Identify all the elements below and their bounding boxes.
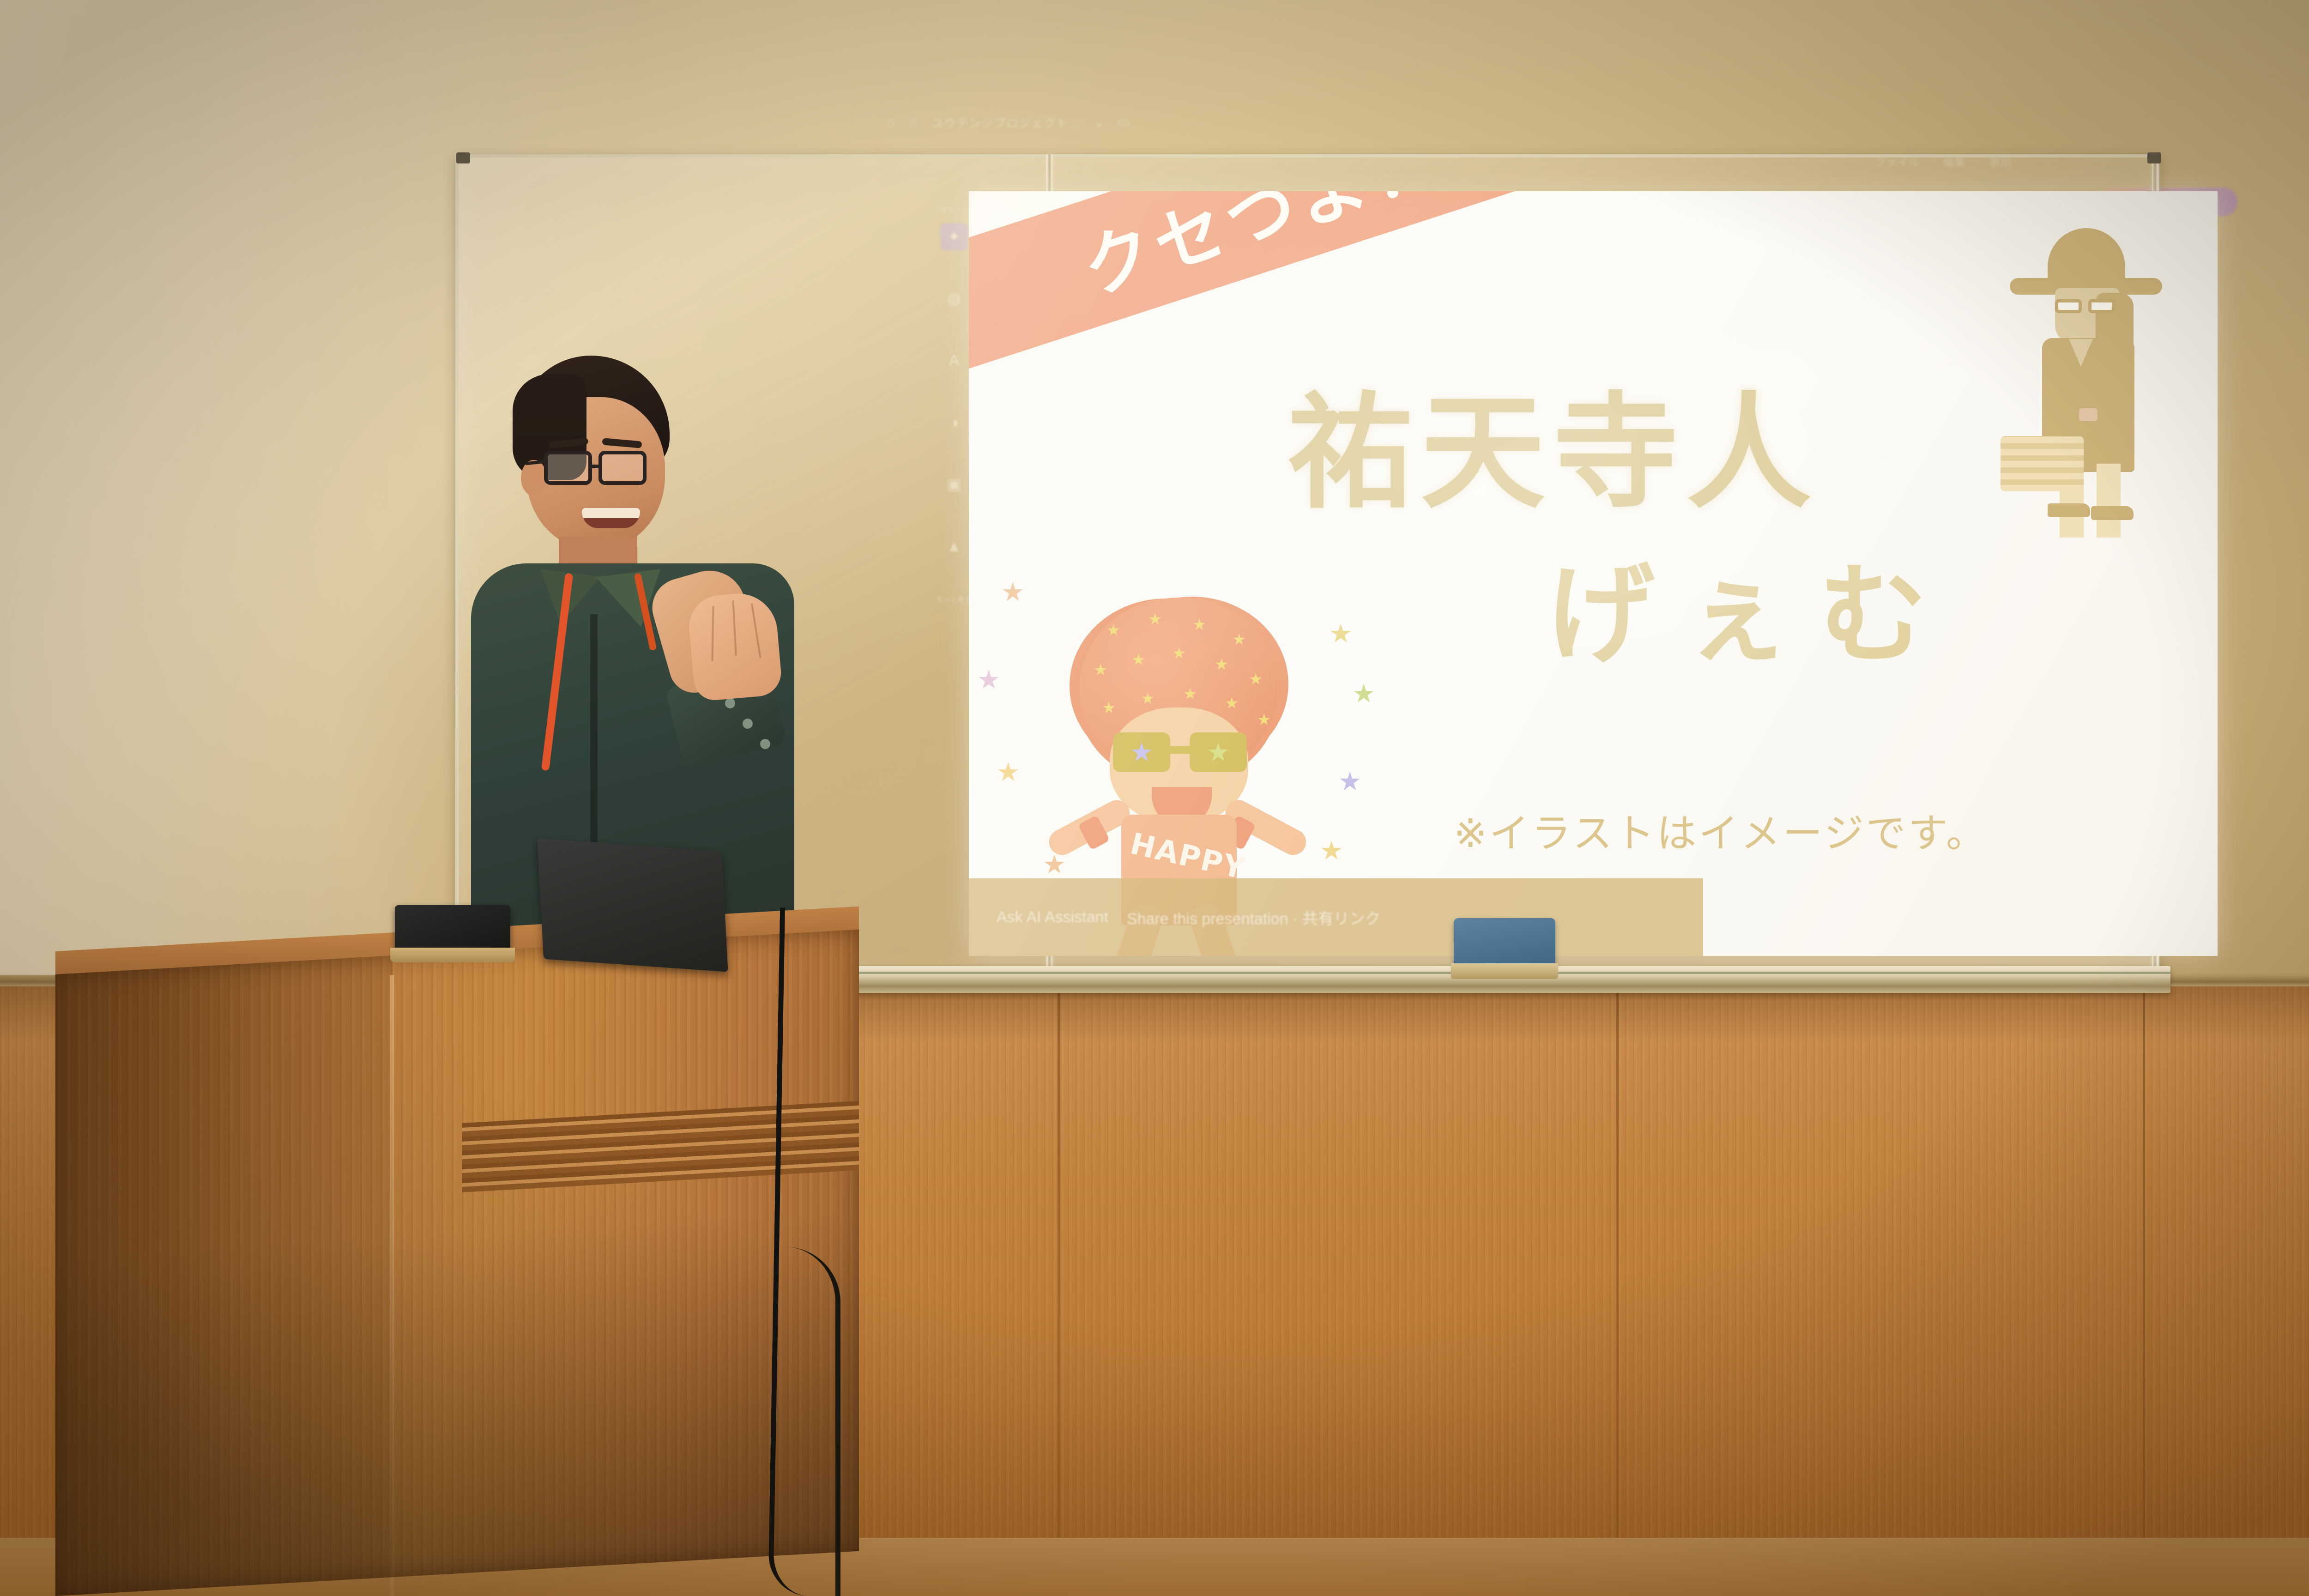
decor-star: ★ [997,759,1020,785]
wainscot-seam [2143,986,2145,1596]
footer-right-text[interactable]: Share this presentation · 共有リンク [1127,906,1381,929]
decor-star: ★ [977,667,1000,693]
slide-headline: 祐天寺人 [1287,390,1819,514]
mascot-star-sunglasses: ★ ★ [1113,732,1247,772]
wainscot-seam [1616,986,1619,1596]
slide-banner: クセつよ！ [969,191,1606,373]
footer-left-text[interactable]: Ask AI Assistant [997,908,1108,926]
slide-subline: げぇむ [1546,561,1955,669]
finger-crease [751,603,762,658]
decor-star: ★ [1352,681,1375,707]
presenter-teeth [582,508,640,518]
mascot-lens-right: ★ [1190,732,1247,772]
whiteboard-corner-bracket [456,152,470,163]
cloud-icon: ▭ [1117,115,1130,129]
hat-lady-figure [2010,224,2162,519]
laptop [537,838,728,972]
canva-doc-title[interactable]: ユウテンジプロジェクト… [931,114,1081,131]
power-cable-lower [785,1247,840,1596]
star-icon[interactable]: ☆ [907,115,919,129]
figure-pocket [2079,408,2097,421]
chevron-down-icon[interactable]: ⌄ [1093,115,1105,129]
mascot-glasses-bridge [1168,746,1192,754]
mascot-lens-left: ★ [1113,732,1170,772]
podium-shading [55,930,859,1596]
av-device-base [390,948,515,962]
decor-star: ★ [1320,838,1343,864]
presenter-glasses-bridge [592,465,601,468]
presenter-cuff-button [725,698,735,708]
mascot-afro-character: ★★ ★★ ★★ ★★ ★★ ★★ ★★ ★★ ★★ ★ ★ [1024,598,1320,921]
presenter-cuff-button [760,739,770,749]
decor-star: ★ [1043,852,1066,877]
photo-canvas: ⌂ ☆ ユウテンジプロジェクト… ⌄ ▭ ファイル 編集 表示 デザイン ✦ ◍… [0,0,2309,1596]
decor-star: ★ [1329,621,1352,647]
decor-star: ★ [1338,768,1361,794]
canva-footer-band: Ask AI Assistant Share this presentation… [969,878,1703,956]
av-device [395,905,510,951]
slide-caption: ※イラストはイメージです。 [1454,801,1988,858]
presenter-shirt-placket [590,614,598,854]
wainscot-seam [1058,986,1060,1596]
whiteboard-eraser-base [1451,963,1558,979]
presenter-mouth [582,508,640,528]
canva-topbar: ⌂ ☆ ユウテンジプロジェクト… ⌄ ▭ [887,109,1219,136]
decor-star: ★ [1001,579,1024,605]
projected-slide: ★★ ★★ ★★ ★★ ★★ ★★ ★★ ★★ ★★ ★ ★ [969,191,2218,956]
figure-shoe-left [2048,503,2090,517]
figure-lens-left [2055,299,2082,313]
presenter-glasses-left-lens [544,451,592,485]
star-icon: ★ [1130,739,1153,765]
figure-leg-right [2097,464,2121,538]
finger-crease [732,600,737,656]
slide-banner-text: クセつよ！ [1068,191,1455,314]
figure-shoe-right [2091,506,2134,520]
home-icon[interactable]: ⌂ [887,115,895,129]
figure-briefcase [2001,436,2084,491]
presenter-cuff-button [743,719,753,729]
presenter-glasses-right-lens [598,451,647,485]
finger-crease [711,606,714,661]
whiteboard-eraser [1454,918,1555,968]
figure-lens-right [2088,299,2115,313]
star-icon: ★ [1207,739,1230,765]
whiteboard-corner-bracket [2147,152,2161,163]
presenter-ear [521,460,547,496]
